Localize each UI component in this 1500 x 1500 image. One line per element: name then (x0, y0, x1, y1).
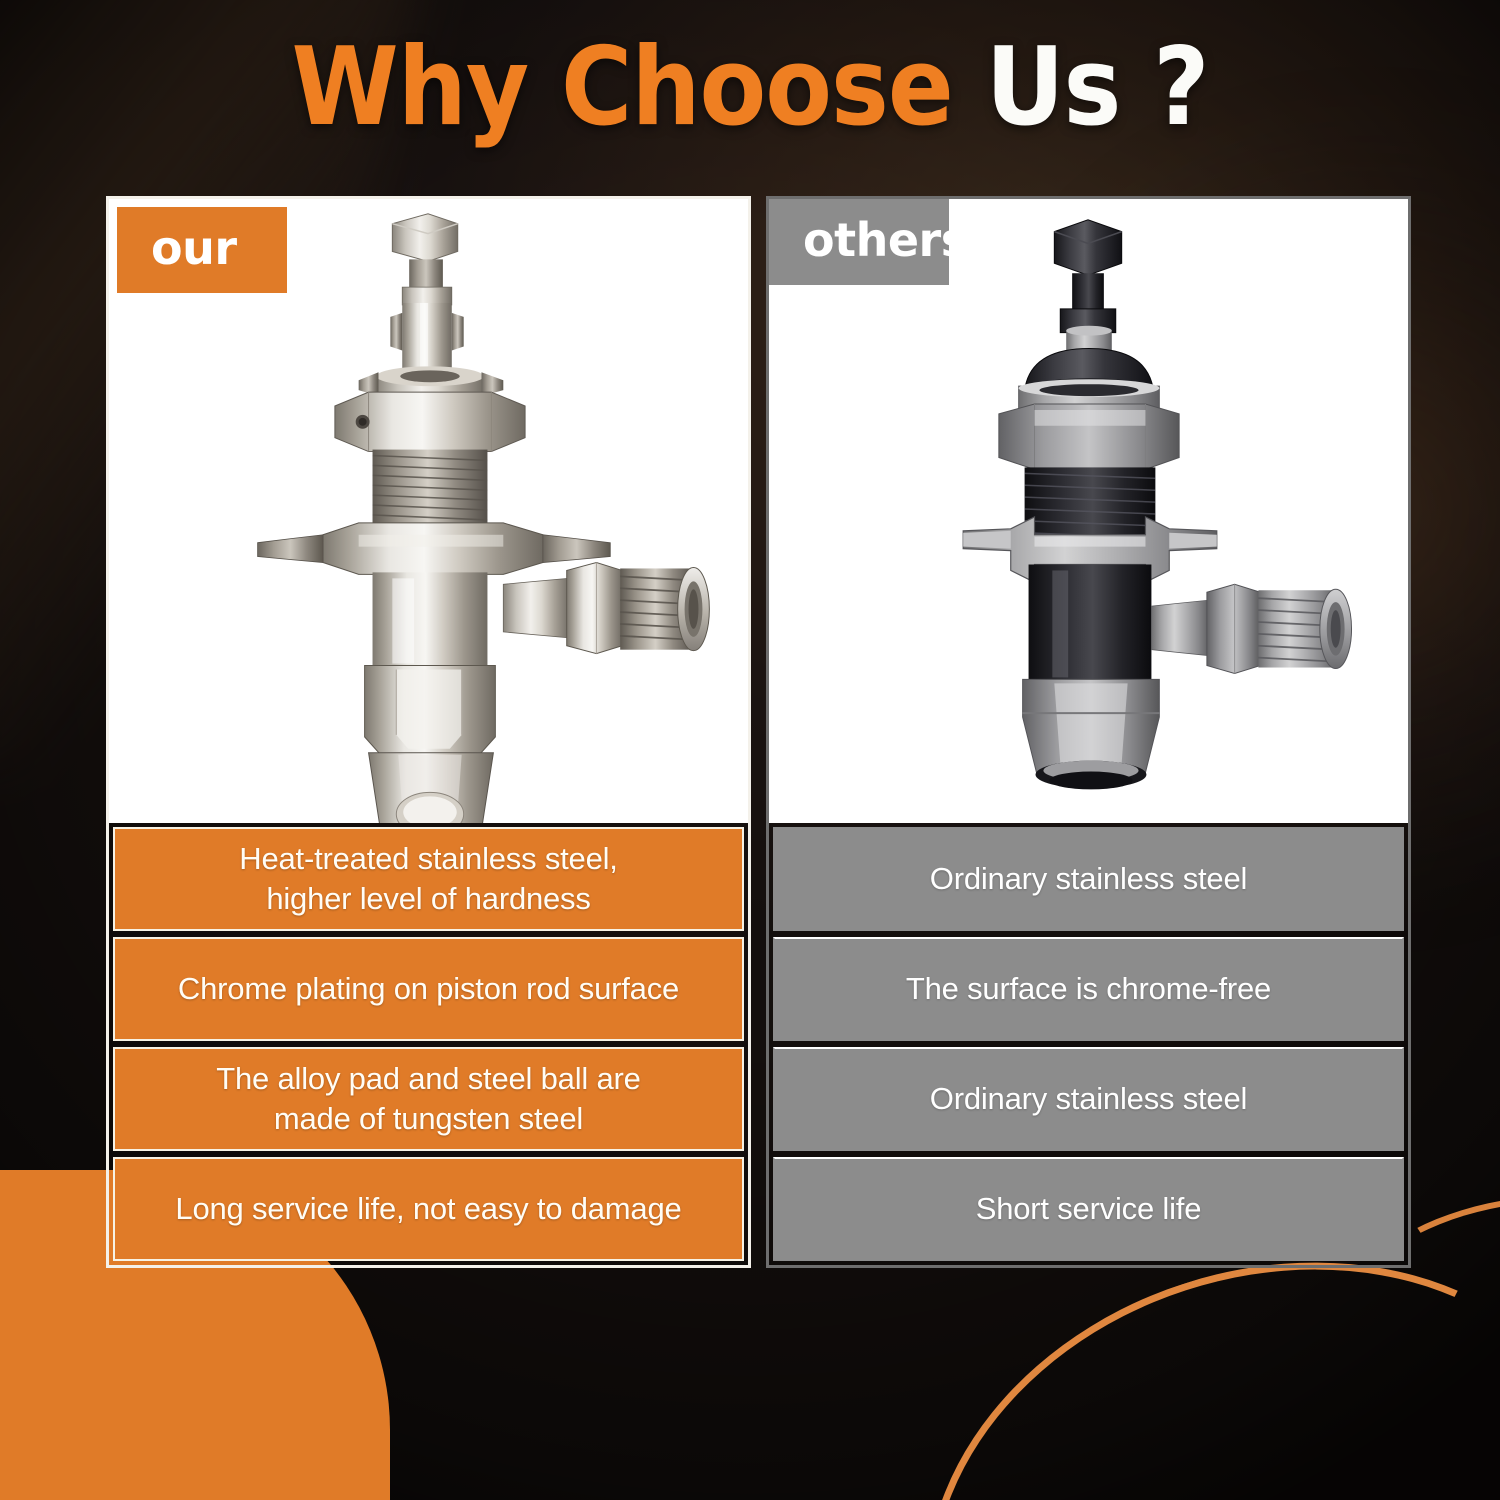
feature-list-ours: Heat-treated stainless steel,higher leve… (109, 823, 748, 1265)
feature-row: Short service life (773, 1157, 1404, 1261)
page-title-highlight: Why Choose (291, 25, 952, 150)
badge-others: others (769, 199, 949, 285)
comparison-card-ours: our Heat-treated stainless steel,higher … (106, 196, 751, 1268)
feature-row: Chrome plating on piston rod surface (113, 937, 744, 1041)
feature-row: Ordinary stainless steel (773, 827, 1404, 931)
comparison-card-others: others Ordinary stainless steel The surf… (766, 196, 1411, 1268)
badge-ours: our (117, 207, 287, 293)
valve-illustration-others (769, 199, 1408, 823)
product-photo-others (769, 199, 1408, 823)
feature-row: Long service life, not easy to damage (113, 1157, 744, 1261)
feature-row: The surface is chrome-free (773, 937, 1404, 1041)
infographic-canvas: Why Choose Us ? (0, 0, 1500, 1500)
feature-row: Ordinary stainless steel (773, 1047, 1404, 1151)
feature-row: The alloy pad and steel ball aremade of … (113, 1047, 744, 1151)
feature-list-others: Ordinary stainless steel The surface is … (769, 823, 1408, 1265)
page-title-rest: Us ? (953, 25, 1209, 150)
feature-row: Heat-treated stainless steel,higher leve… (113, 827, 744, 931)
page-title: Why Choose Us ? (0, 34, 1500, 142)
